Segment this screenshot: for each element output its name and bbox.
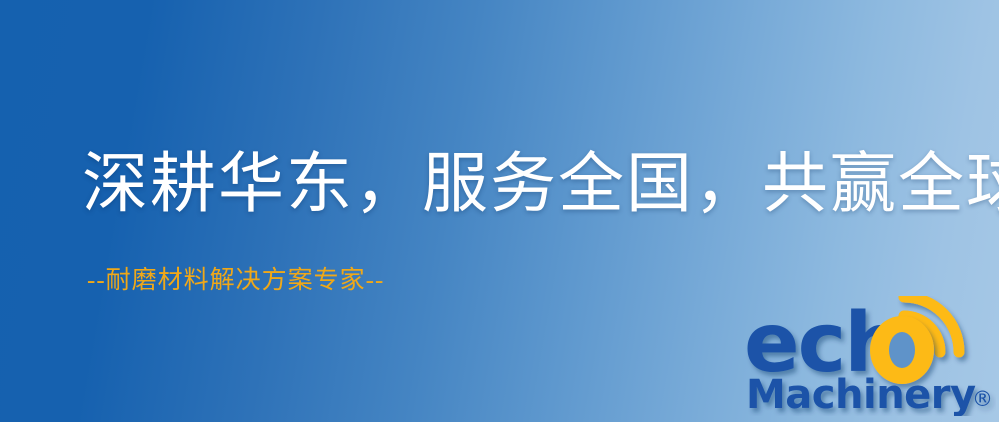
hero-banner: 深耕华东，服务全国，共赢全球 --耐磨材料解决方案专家-- ech [0, 0, 999, 422]
echo-machinery-logo: ech Machinery ® [744, 296, 996, 416]
banner-subtitle: --耐磨材料解决方案专家-- [87, 268, 384, 293]
logo-tagline: Machinery [746, 372, 976, 416]
logo-registered-mark: ® [972, 387, 993, 411]
banner-headline: 深耕华东，服务全国，共赢全球 [82, 152, 999, 218]
